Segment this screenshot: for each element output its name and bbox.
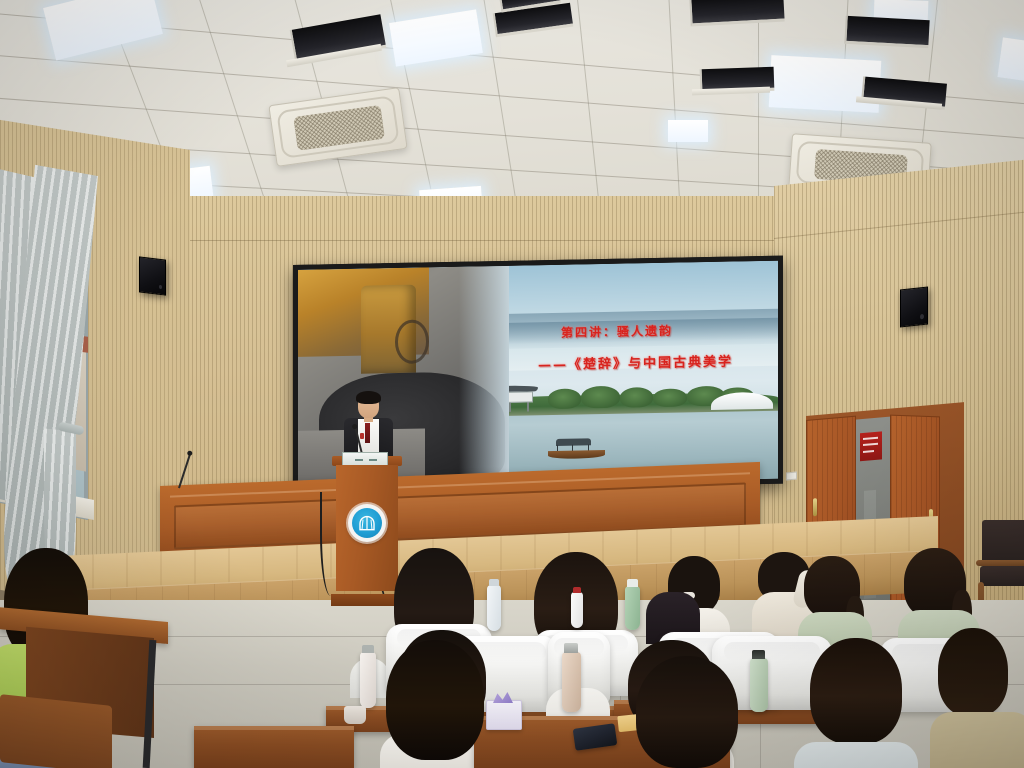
slide-title-line1: 第四讲：骚人遗韵 (561, 320, 768, 341)
ceiling-light-panel (997, 37, 1024, 82)
emblem-glyph (358, 515, 376, 531)
chair-wood (0, 694, 112, 768)
lecture-hall-scene: 第四讲：骚人遗韵 ——《楚辞》与中国古典美学 (0, 0, 1024, 768)
slide-statue-photo (298, 266, 509, 488)
university-emblem (348, 504, 386, 542)
slide-tree (548, 389, 582, 409)
slide-tree (581, 386, 619, 409)
wall-speaker-left (139, 256, 166, 295)
hair (386, 640, 484, 760)
wall-speaker-right (900, 287, 928, 328)
hair (636, 656, 738, 768)
thermos-flask[interactable] (562, 652, 581, 712)
water-bottle[interactable] (360, 652, 376, 708)
hair (810, 638, 902, 744)
desk (194, 726, 354, 768)
hair (938, 628, 1008, 716)
podium (336, 456, 398, 606)
water-bottle[interactable] (487, 585, 501, 631)
slide-title-line2: ——《楚辞》与中国古典美学 (538, 350, 768, 373)
cup[interactable] (344, 706, 366, 724)
ceiling-air-vent (844, 16, 929, 48)
slide-tree (620, 387, 654, 407)
audience-person (646, 566, 700, 640)
slide-text-block: 第四讲：骚人遗韵 ——《楚辞》与中国古典美学 (538, 320, 768, 373)
ceiling-air-vent (689, 0, 784, 26)
water-bottle[interactable] (571, 592, 583, 628)
audience-person (800, 638, 912, 768)
slide-tree (653, 389, 687, 407)
thermos-flask[interactable] (625, 586, 640, 630)
ceiling-light-panel (43, 0, 163, 61)
lapel-badge (360, 433, 364, 439)
door-poster (860, 431, 882, 461)
audience-person (936, 628, 1024, 768)
ceiling-light-panel (668, 120, 708, 142)
thermos-flask[interactable] (750, 658, 768, 712)
audience-person (622, 656, 750, 768)
slide-boat (548, 438, 606, 459)
ceiling-ac-cassette (268, 87, 407, 167)
ceiling-light-panel (389, 9, 483, 66)
audience-person (376, 640, 494, 768)
light-switch[interactable] (786, 472, 797, 481)
